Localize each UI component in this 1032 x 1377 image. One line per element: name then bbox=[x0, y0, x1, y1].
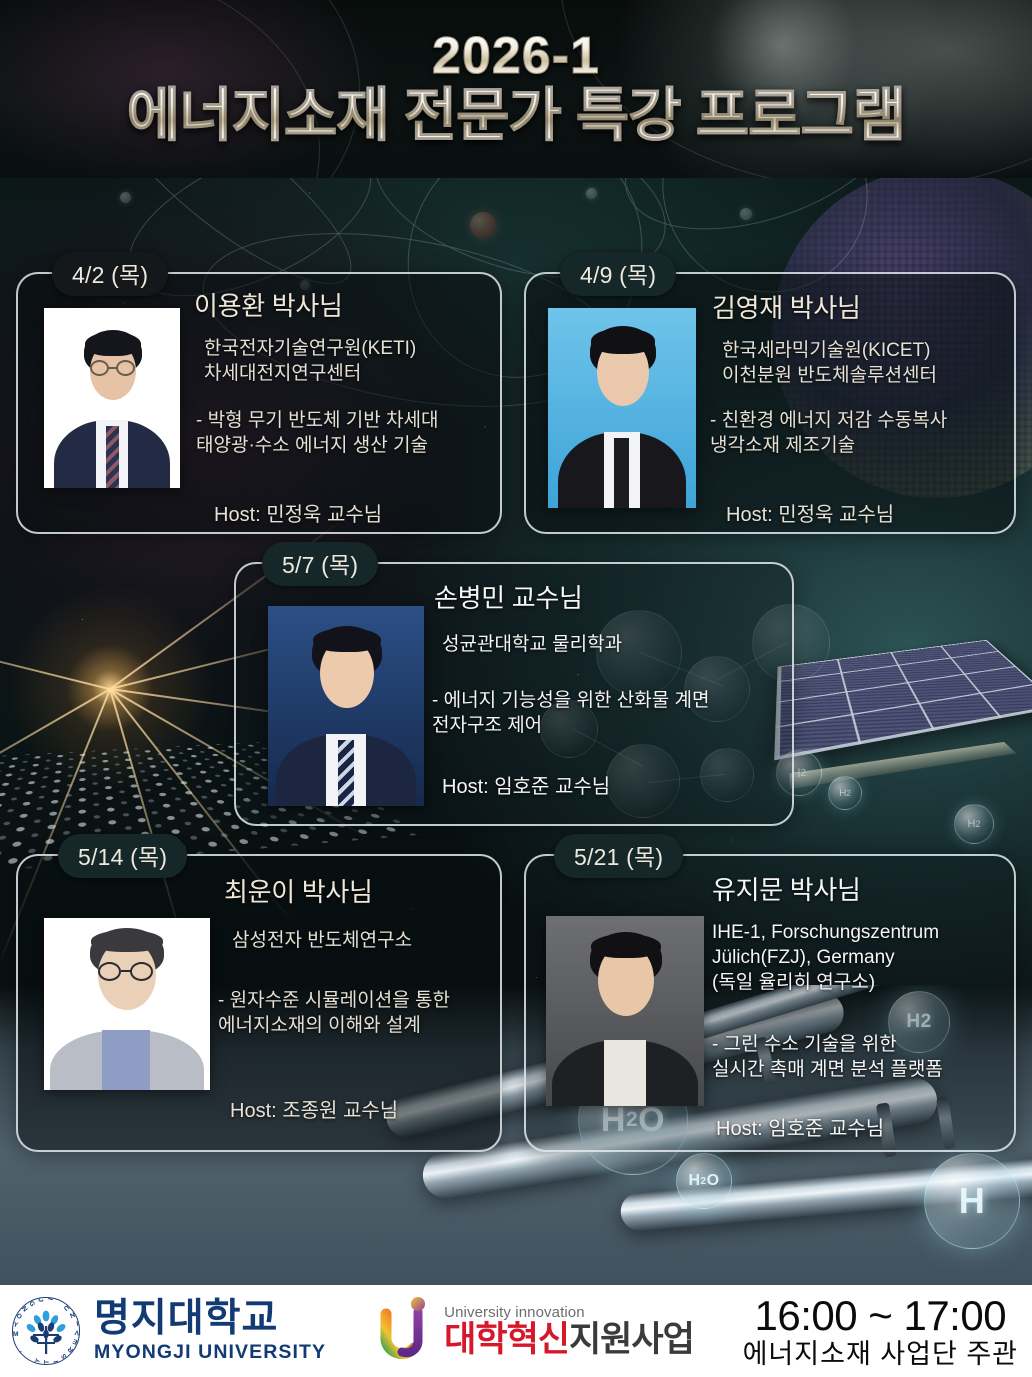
speaker-photo-3 bbox=[268, 606, 424, 806]
h2-bubble-panel-b: H2 bbox=[828, 776, 862, 810]
lecture-host-3: Host: 임호준 교수님 bbox=[442, 774, 610, 800]
speaker-affiliation-4: 삼성전자 반도체연구소 bbox=[232, 928, 502, 953]
speaker-name-4: 최운이 박사님 bbox=[224, 872, 373, 909]
speaker-name-3: 손병민 교수님 bbox=[434, 578, 583, 615]
lecture-card-5[interactable]: 5/21 (목) 유지문 박사님 IHE-1, Forschungszentru… bbox=[524, 854, 1016, 1152]
speaker-affiliation-5: IHE-1, Forschungszentrum Jülich(FZJ), Ge… bbox=[712, 920, 1022, 995]
myongji-university-logo: MYONGJI UNIVERSITY · bbox=[0, 1293, 326, 1369]
schedule-time-block: 16:00 ~ 17:00 에너지소재 사업단 주관 bbox=[743, 1294, 1032, 1369]
lecture-time: 16:00 ~ 17:00 bbox=[755, 1294, 1007, 1338]
lecture-host-2: Host: 민정욱 교수님 bbox=[726, 502, 894, 528]
speaker-name-1: 이용환 박사님 bbox=[194, 286, 343, 323]
date-badge-1: 4/2 (목) bbox=[52, 252, 168, 296]
speaker-photo-2 bbox=[548, 308, 696, 508]
tree-icon bbox=[20, 1308, 72, 1358]
poster-root: H2 H2 H2 H2O H2O H H2 bbox=[0, 0, 1032, 1377]
lecture-topic-3: - 에너지 기능성을 위한 산화물 계면 전자구조 제어 bbox=[432, 688, 792, 738]
lecture-topic-5: - 그린 수소 기술을 위한 실시간 촉매 계면 분석 플랫폼 bbox=[712, 1032, 1022, 1082]
ui-mark-icon bbox=[380, 1296, 436, 1366]
lecture-topic-1: - 박형 무기 반도체 기반 차세대 태양광·수소 에너지 생산 기술 bbox=[196, 408, 502, 458]
h2-bubble-panel-c: H2 bbox=[954, 804, 994, 844]
poster-title-band: 2026-1 에너지소재 전문가 특강 프로그램 bbox=[0, 0, 1032, 178]
speaker-name-2: 김영재 박사님 bbox=[712, 288, 861, 325]
uis-korean-dark: 지원사업 bbox=[569, 1320, 694, 1359]
poster-year: 2026-1 bbox=[432, 30, 600, 83]
uis-korean-red: 대학혁신 bbox=[444, 1320, 569, 1359]
lecture-host-5: Host: 임호준 교수님 bbox=[716, 1116, 884, 1142]
lecture-card-3[interactable]: 5/7 (목) 손병민 교수님 성균관대학교 물리학과 - 에너지 기능성을 위… bbox=[234, 562, 794, 826]
date-badge-5: 5/21 (목) bbox=[554, 834, 683, 878]
date-badge-2: 4/9 (목) bbox=[560, 252, 676, 296]
myongji-emblem-icon: MYONGJI UNIVERSITY · bbox=[8, 1293, 84, 1369]
university-innovation-logo: University innovation 대학혁신지원사업 bbox=[380, 1296, 694, 1366]
myongji-english-name: MYONGJI UNIVERSITY bbox=[94, 1343, 326, 1363]
lecture-card-1[interactable]: 4/2 (목) 이용환 박사님 한국전자기술연구원(KETI) 차세대전지연구센… bbox=[16, 272, 502, 534]
lecture-host-1: Host: 민정욱 교수님 bbox=[214, 502, 382, 528]
speaker-name-5: 유지문 박사님 bbox=[712, 870, 861, 907]
speaker-affiliation-2: 한국세라믹기술원(KICET) 이천분원 반도체솔루션센터 bbox=[722, 338, 1022, 388]
lecture-card-4[interactable]: 5/14 (목) 최운이 박사님 삼성전자 반도체연구소 - 원자수준 시뮬레이… bbox=[16, 854, 502, 1152]
lecture-topic-4: - 원자수준 시뮬레이션을 통한 에너지소재의 이해와 설계 bbox=[218, 988, 504, 1038]
lecture-host-4: Host: 조종원 교수님 bbox=[230, 1098, 398, 1124]
speaker-affiliation-3: 성균관대학교 물리학과 bbox=[442, 632, 772, 657]
h-atom-label: H bbox=[959, 1180, 986, 1222]
speaker-affiliation-1: 한국전자기술연구원(KETI) 차세대전지연구센터 bbox=[204, 336, 504, 386]
lecture-card-2[interactable]: 4/9 (목) 김영재 박사님 한국세라믹기술원(KICET) 이천분원 반도체… bbox=[524, 272, 1016, 534]
speaker-photo-4 bbox=[44, 918, 210, 1090]
h2o-bubble-small: H2O bbox=[676, 1153, 732, 1209]
date-badge-3: 5/7 (목) bbox=[262, 542, 378, 586]
university-innovation-tagline: University innovation bbox=[444, 1305, 694, 1320]
organizer-label: 에너지소재 사업단 주관 bbox=[743, 1340, 1018, 1368]
speaker-photo-1 bbox=[44, 308, 180, 488]
date-badge-4: 5/14 (목) bbox=[58, 834, 187, 878]
speaker-photo-5 bbox=[546, 916, 704, 1106]
myongji-korean-name: 명지대학교 bbox=[94, 1299, 326, 1338]
poster-footer: MYONGJI UNIVERSITY · bbox=[0, 1285, 1032, 1377]
h-atom-bubble: H bbox=[924, 1153, 1020, 1249]
lecture-topic-2: - 친환경 에너지 저감 수동복사 냉각소재 제조기술 bbox=[710, 408, 1016, 458]
poster-title: 에너지소재 전문가 특강 프로그램 bbox=[127, 85, 905, 148]
